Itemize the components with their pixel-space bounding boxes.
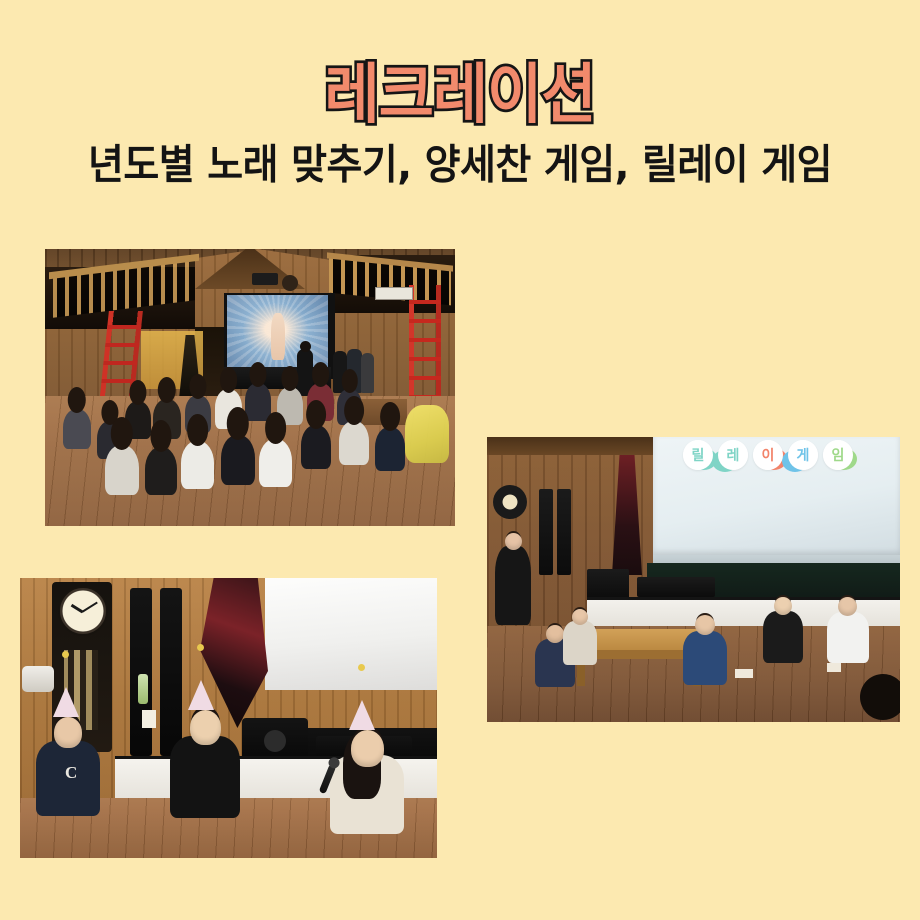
slide-letter-bubble: 임 [823, 440, 853, 470]
av-receiver [637, 577, 715, 597]
bottle-on-shelf [138, 674, 148, 704]
projector-screen [265, 578, 437, 690]
seated-person [301, 425, 331, 469]
foreground-head [860, 674, 900, 720]
slide-letter-bubble: 릴 [683, 440, 713, 470]
photo-party-hat-game: C [20, 578, 437, 858]
participant-head [351, 730, 384, 767]
party-hat-participant [330, 718, 404, 834]
bubble-letter: 릴 [692, 445, 705, 465]
slide-letter-bubble: 게 [788, 440, 818, 470]
participant-torso [170, 736, 240, 818]
party-hat-participant: C [36, 706, 100, 816]
participant-head [774, 597, 792, 615]
screen-performer [271, 313, 284, 360]
photo-2-scene: 릴레이게임 [487, 437, 900, 722]
seated-person [375, 427, 405, 471]
participant-body [563, 621, 597, 665]
poster-canvas: 레크레이션 년도별 노래 맞추기, 양세찬 게임, 릴레이 게임 [0, 0, 920, 920]
participant [827, 597, 869, 663]
seated-person [259, 439, 292, 487]
yellow-bag [405, 405, 449, 463]
page-title: 레크레이션 [325, 59, 596, 130]
participant-body [763, 611, 803, 663]
photo-1-scene [45, 249, 455, 526]
party-hat-participant [170, 698, 240, 818]
participant-head [54, 717, 82, 748]
participant [563, 609, 597, 665]
party-hat [188, 680, 214, 710]
participant-body [495, 546, 531, 625]
slide-letter-bubble: 이 [753, 440, 783, 470]
speaker-tower-right [557, 489, 571, 575]
standing-person-4 [361, 353, 374, 393]
ceiling-projector [252, 273, 278, 285]
page-subtitle: 년도별 노래 맞추기, 양세찬 게임, 릴레이 게임 [0, 142, 920, 191]
block-piece-1 [735, 669, 753, 678]
subwoofer [587, 569, 629, 599]
seated-person [339, 421, 369, 465]
participant [495, 533, 531, 625]
slide-title-bubbles: 릴레이게임 [683, 440, 853, 470]
speaker-tower-left [130, 588, 152, 756]
bubble-letter: 레 [727, 445, 740, 465]
bubble-letter: 이 [762, 445, 775, 465]
block-piece-2 [827, 663, 841, 672]
subwoofer-port [264, 730, 286, 752]
participant-head [505, 533, 522, 550]
rice-cooker [22, 666, 54, 692]
photo-3-scene: C [20, 578, 437, 858]
bubble-letter: 임 [832, 445, 845, 465]
participant-head [695, 615, 715, 635]
participant [683, 615, 727, 685]
photo-song-quiz [45, 249, 455, 526]
paper-note [142, 710, 156, 728]
ceiling-beam [487, 437, 657, 455]
party-hat [53, 687, 79, 717]
slide-letter-bubble: 레 [718, 440, 748, 470]
seated-person [63, 409, 91, 449]
participant-head [572, 609, 588, 625]
participant-head [546, 625, 564, 643]
participant-head [838, 597, 857, 616]
clock-minute-hand [81, 602, 97, 613]
seated-person [245, 383, 271, 421]
party-hat [349, 700, 375, 730]
seated-person [181, 441, 214, 489]
wall-clock [493, 485, 527, 519]
participant [763, 597, 803, 663]
photo-relay-game: 릴레이게임 [487, 437, 900, 722]
participant-body [827, 612, 869, 663]
round-window [282, 275, 298, 291]
title-block: 레크레이션 [0, 62, 920, 128]
speaker-tower-left [539, 489, 553, 575]
participant-body [683, 631, 727, 685]
seated-person [105, 445, 139, 495]
seated-person [145, 447, 177, 495]
sweatshirt-letter: C [65, 763, 77, 783]
clock-face [58, 586, 108, 636]
seated-person [221, 435, 255, 485]
bubble-letter: 게 [797, 445, 810, 465]
wall-sign [375, 287, 413, 300]
participant-head [190, 710, 221, 745]
